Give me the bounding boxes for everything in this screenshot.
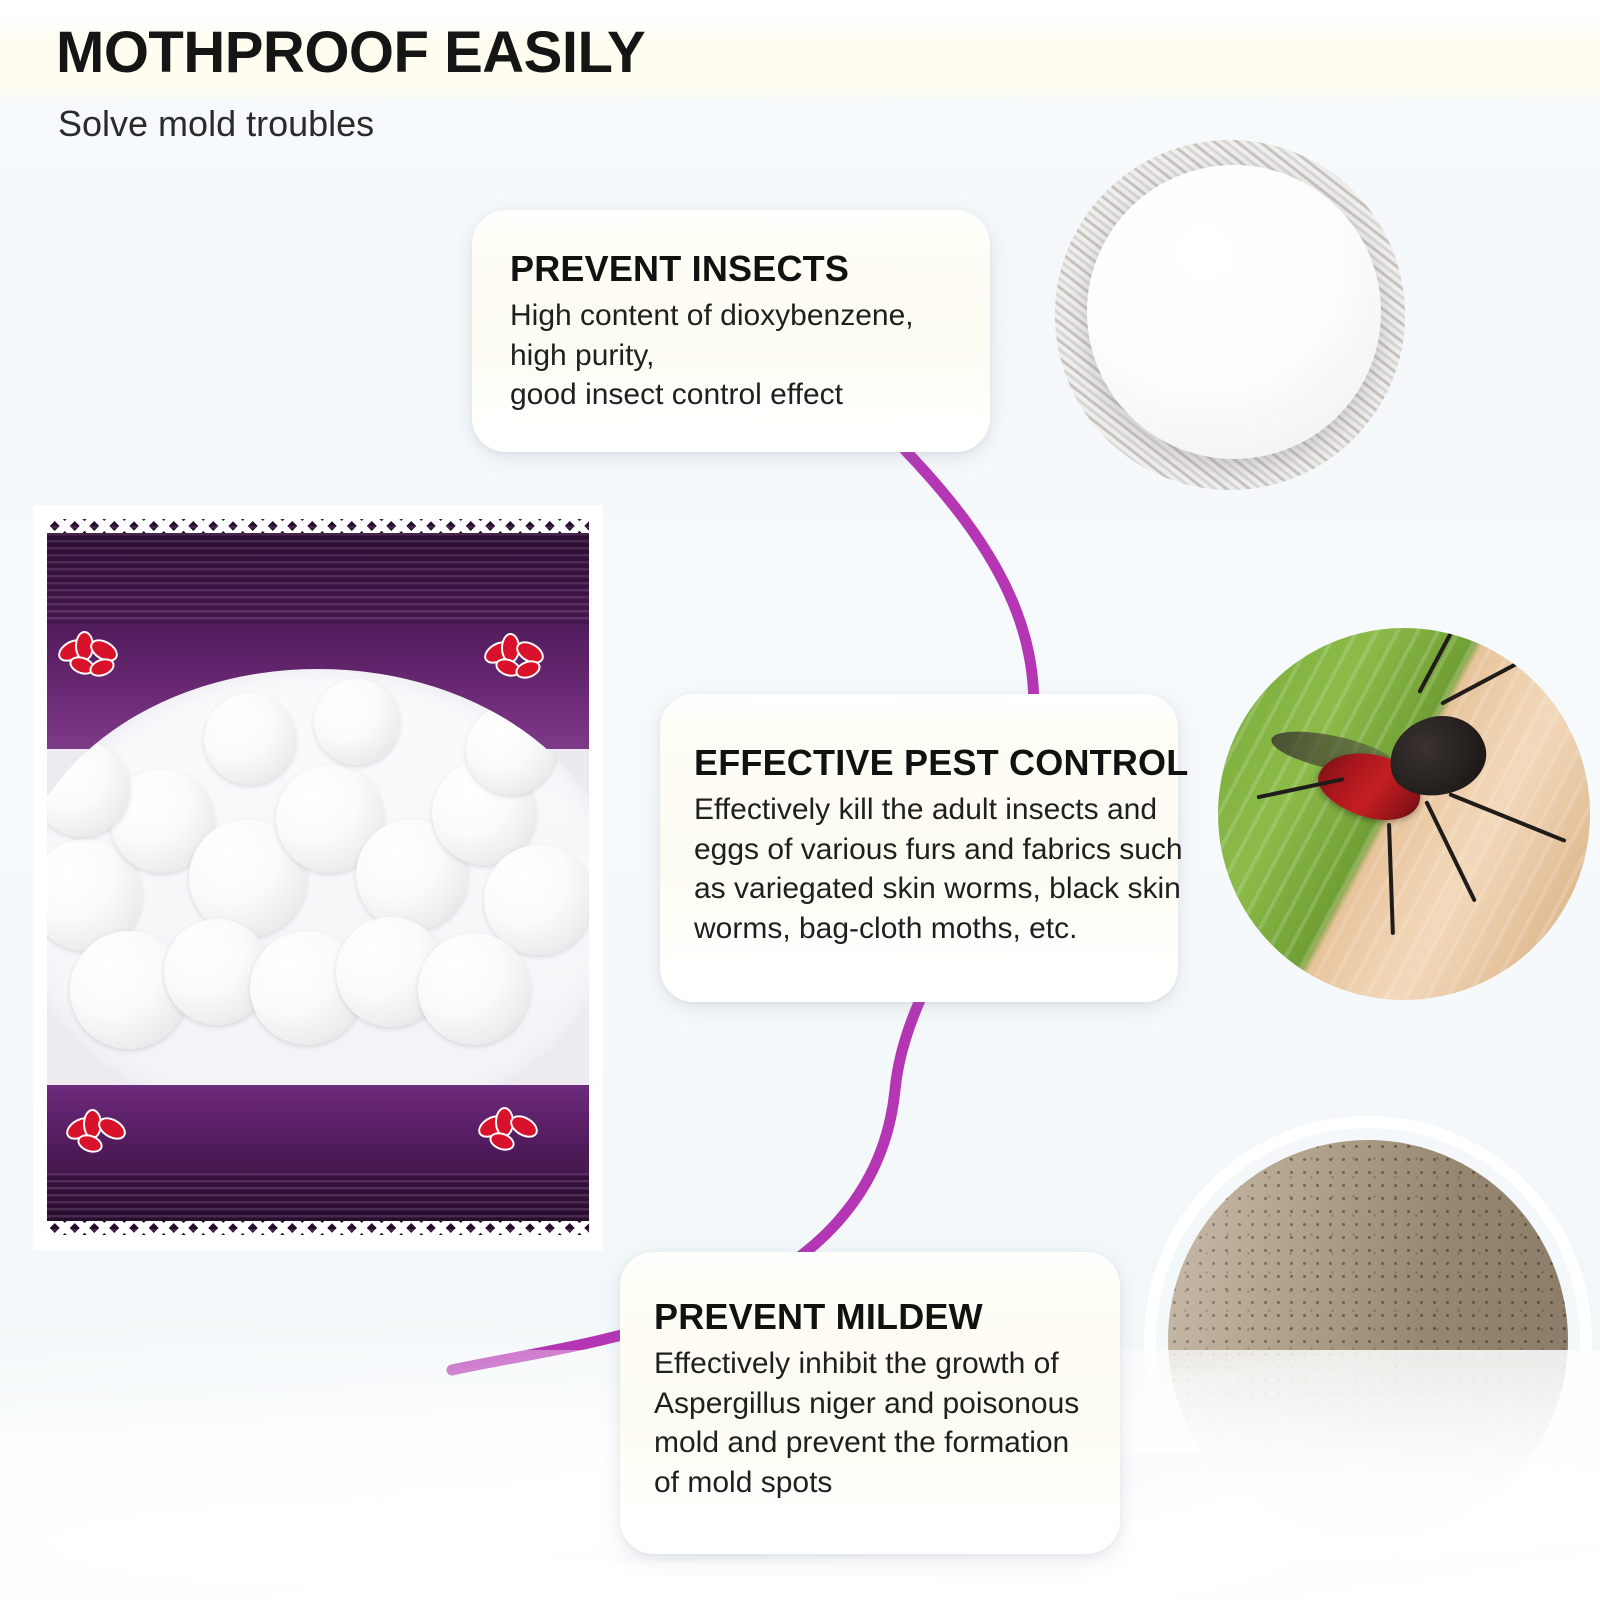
mold-shading-overlay <box>1168 1140 1568 1540</box>
card-body-prevent-insects: High content of dioxybenzene, high purit… <box>510 296 960 415</box>
callout-card-effective-pest-control: EFFECTIVE PEST CONTROL Effectively kill … <box>660 694 1178 1002</box>
product-package-photo: Q/HX-2001 NO:0018 MADE IN CHINA <box>33 505 603 1250</box>
card-title-prevent-insects: PREVENT INSECTS <box>510 248 960 290</box>
page-subtitle: Solve mold troubles <box>58 104 374 144</box>
card-body-line: mold and prevent the formation <box>654 1423 1096 1463</box>
card-body-line: Aspergillus niger and poisonous <box>654 1384 1096 1424</box>
card-body-line: high purity, <box>510 336 960 376</box>
mothball-tablet-photo <box>1055 140 1405 490</box>
infographic-canvas: MOTHPROOF EASILY Solve mold troubles <box>0 0 1600 1600</box>
card-body-line: of mold spots <box>654 1463 1096 1503</box>
floral-decoration-top-left <box>53 629 131 691</box>
card-body-line: Effectively kill the adult insects and <box>694 790 1154 830</box>
mold-spots-photo <box>1168 1140 1568 1540</box>
card-body-line: good insect control effect <box>510 375 960 415</box>
card-body-line: Effectively inhibit the growth of <box>654 1344 1096 1384</box>
bag-zigzag-top-edge <box>47 519 589 533</box>
card-body-line: High content of dioxybenzene, <box>510 296 960 336</box>
callout-card-prevent-mildew: PREVENT MILDEW Effectively inhibit the g… <box>620 1252 1120 1554</box>
floral-decoration-top-right <box>479 631 557 693</box>
card-body-line: as variegated skin worms, black skin <box>694 869 1154 909</box>
card-body-prevent-mildew: Effectively inhibit the growth of Asperg… <box>654 1344 1096 1502</box>
card-body-line: worms, bag-cloth moths, etc. <box>694 909 1154 949</box>
bag-clear-window <box>47 669 589 1139</box>
floral-decoration-bottom-right <box>473 1105 551 1167</box>
tablet-ball-shape <box>1087 165 1381 459</box>
mosquito-photo <box>1218 628 1590 1000</box>
card-body-effective-pest-control: Effectively kill the adult insects and e… <box>694 790 1154 948</box>
floral-decoration-bottom-left <box>61 1107 139 1169</box>
card-title-effective-pest-control: EFFECTIVE PEST CONTROL <box>694 742 1154 784</box>
bag-top-ridges <box>47 519 589 624</box>
callout-card-prevent-insects: PREVENT INSECTS High content of dioxyben… <box>472 210 990 452</box>
page-title: MOTHPROOF EASILY <box>56 24 645 82</box>
card-title-prevent-mildew: PREVENT MILDEW <box>654 1296 1096 1338</box>
mothball-bag: Q/HX-2001 NO:0018 MADE IN CHINA <box>47 519 589 1235</box>
card-body-line: eggs of various furs and fabrics such <box>694 830 1154 870</box>
bag-zigzag-bottom-edge <box>47 1221 589 1235</box>
